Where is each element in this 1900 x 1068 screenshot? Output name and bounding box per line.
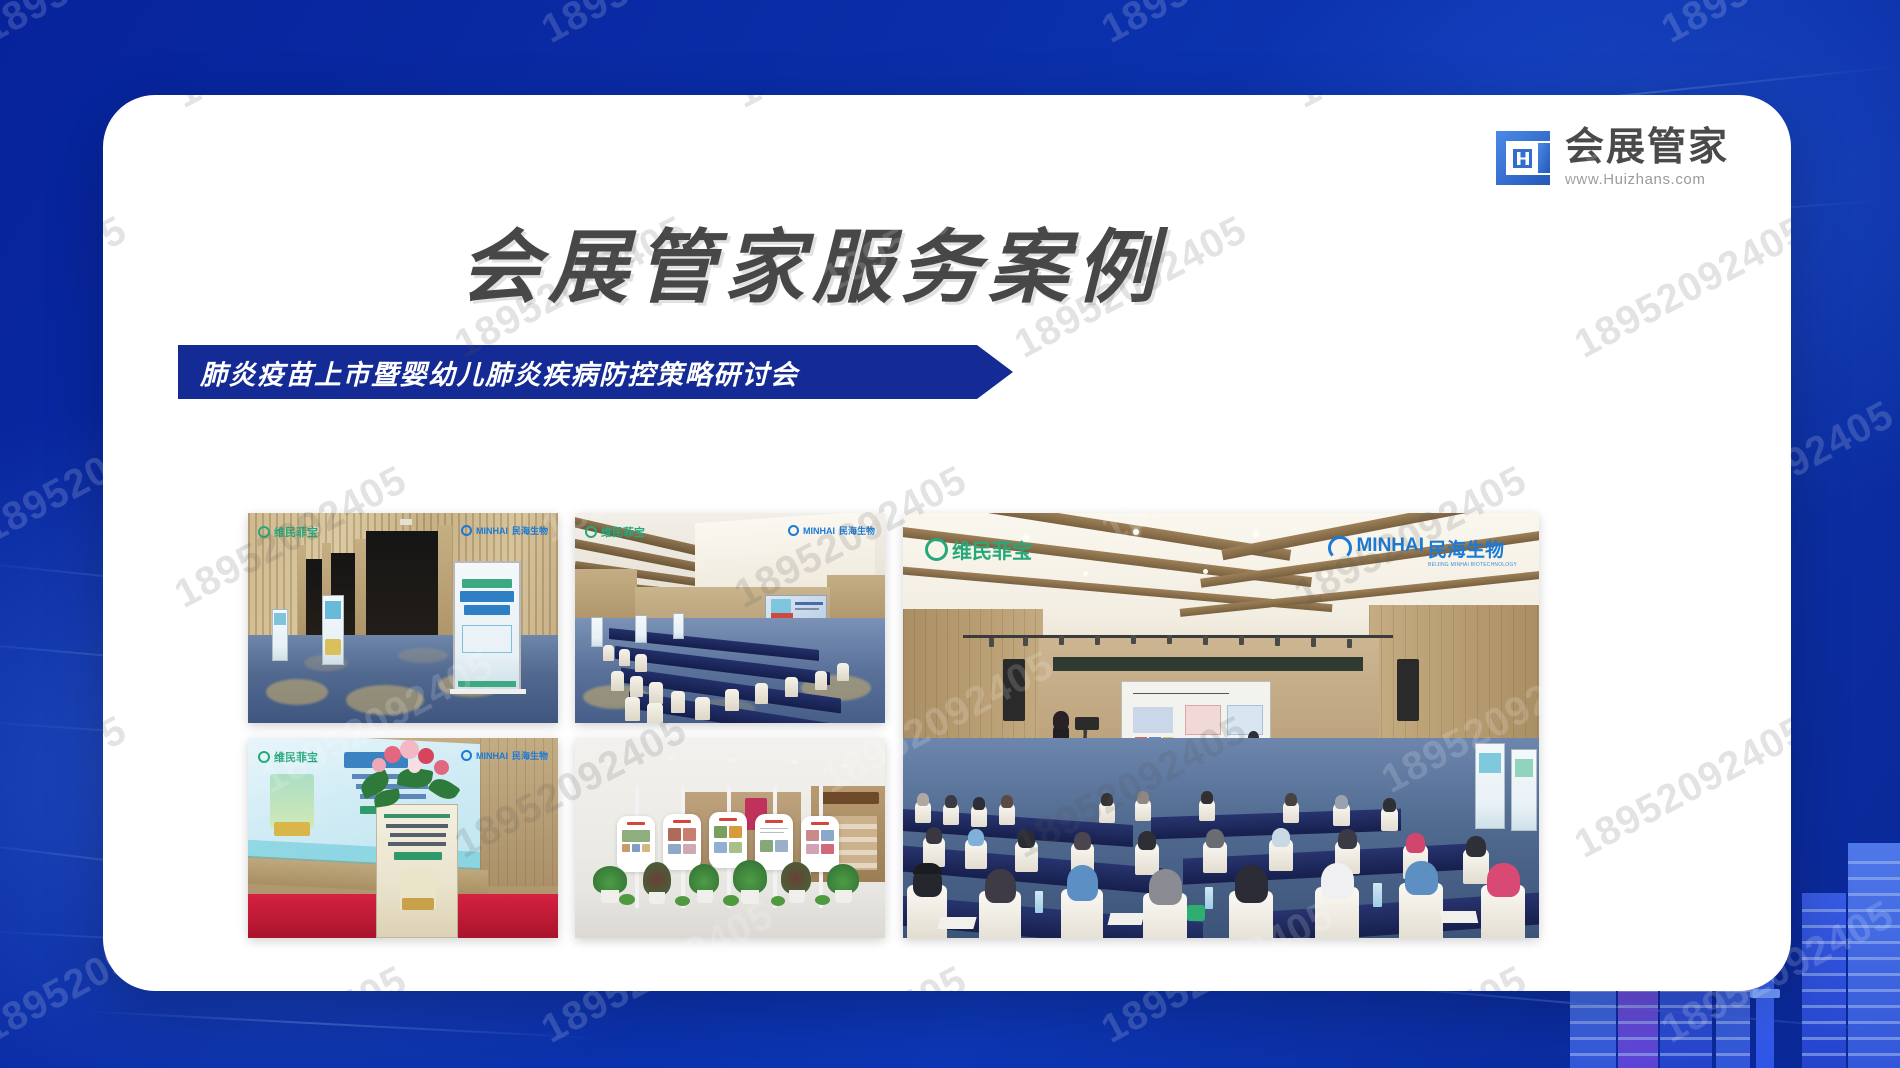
- skyline-window: [1618, 1053, 1658, 1056]
- skyline-window: [1848, 861, 1900, 864]
- brand-name: 会展管家: [1565, 128, 1729, 167]
- skyline-tower-segment: [1750, 989, 1780, 998]
- weiminfeibao-ring-icon: [925, 538, 948, 561]
- skyline-window: [1848, 893, 1900, 896]
- skyline-window: [1802, 989, 1846, 992]
- skyline-window: [1802, 925, 1846, 928]
- skyline-window: [1570, 1037, 1616, 1040]
- skyline-building: [1802, 893, 1846, 1068]
- overlay-logo-minhai: MINHAI 民海生物 BEIJING MINHAI BIOTECHNOLOGY: [1328, 535, 1517, 568]
- skyline-window: [1802, 973, 1846, 976]
- photo-empty-hall[interactable]: 维民菲宝 MINHAI 民海生物: [575, 513, 885, 723]
- watermark-text: 18952092405: [103, 708, 134, 868]
- photo-4-scene: [575, 738, 885, 938]
- skyline-building: [1848, 843, 1900, 1068]
- weiminfeibao-ring-icon: [258, 751, 270, 763]
- watermark-text: 18952092405: [727, 958, 974, 991]
- photo-5-scene: [903, 513, 1539, 938]
- minhai-subtitle: BEIJING MINHAI BIOTECHNOLOGY: [1428, 562, 1517, 568]
- skyline-window: [1570, 1021, 1616, 1024]
- watermark-text: 18952092405: [1567, 708, 1791, 868]
- skyline-window: [1660, 1021, 1712, 1024]
- photo-stage-banner[interactable]: 维民菲宝 MINHAI 民海生物: [248, 738, 558, 938]
- minhai-latin: MINHAI: [1356, 535, 1424, 557]
- overlay-logo-minhai: MINHAI 民海生物: [461, 524, 548, 537]
- minhai-ring-icon: [1328, 536, 1352, 560]
- skyline-window: [1802, 1037, 1846, 1040]
- photo-exhibition-boards[interactable]: [575, 738, 885, 938]
- skyline-window: [1618, 1037, 1658, 1040]
- watermark-text: 18952092405: [1287, 95, 1534, 117]
- skyline-window: [1848, 973, 1900, 976]
- skyline-window: [1802, 1053, 1846, 1056]
- skyline-window: [1848, 941, 1900, 944]
- photo-1-scene: [248, 513, 558, 723]
- skyline-window: [1802, 941, 1846, 944]
- skyline-window: [1802, 909, 1846, 912]
- content-card: 会展管家 www.Huizhans.com 会展管家服务案例 肺炎疫苗上市暨婴幼…: [103, 95, 1791, 991]
- overlay-logo-weiminfeibao: 维民菲宝: [585, 524, 645, 540]
- overlay-logo-weiminfeibao: 维民菲宝: [258, 749, 318, 765]
- watermark-text: 18952092405: [1287, 958, 1534, 991]
- skyline-window: [1716, 1037, 1750, 1040]
- brand-url: www.Huizhans.com: [1565, 171, 1705, 188]
- skyline-window: [1848, 909, 1900, 912]
- minhai-ring-icon: [788, 525, 799, 536]
- skyline-window: [1802, 1005, 1846, 1008]
- skyline-window: [1660, 1037, 1712, 1040]
- overlay-logo-minhai: MINHAI 民海生物: [788, 524, 875, 537]
- skyline-window: [1716, 1005, 1750, 1008]
- huizhans-h-mark-icon: [1494, 129, 1552, 187]
- skyline-window: [1802, 957, 1846, 960]
- skyline-window: [1848, 989, 1900, 992]
- skyline-window: [1660, 1005, 1712, 1008]
- skyline-window: [1802, 1021, 1846, 1024]
- watermark-text: 18952092405: [727, 95, 974, 117]
- skyline-window: [1716, 1053, 1750, 1056]
- skyline-window: [1848, 1037, 1900, 1040]
- brand-text-block: 会展管家 www.Huizhans.com: [1565, 128, 1729, 188]
- skyline-window: [1848, 957, 1900, 960]
- overlay-logo-minhai: MINHAI 民海生物: [461, 749, 548, 762]
- watermark-text: 18952092405: [167, 95, 414, 117]
- skyline-window: [1848, 877, 1900, 880]
- skyline-window: [1570, 1053, 1616, 1056]
- skyline-window: [1618, 1005, 1658, 1008]
- minhai-ring-icon: [461, 750, 472, 761]
- brand-logo[interactable]: 会展管家 www.Huizhans.com: [1494, 128, 1729, 188]
- overlay-logo-weiminfeibao: 维民菲宝: [925, 535, 1032, 564]
- section-banner-label: 肺炎疫苗上市暨婴幼儿肺炎疾病防控策略研讨会: [178, 353, 799, 392]
- skyline-window: [1660, 1053, 1712, 1056]
- skyline-window: [1716, 1021, 1750, 1024]
- skyline-window: [1848, 1053, 1900, 1056]
- watermark-text: 18952092405: [167, 958, 414, 991]
- skyline-window: [1848, 1021, 1900, 1024]
- skyline-window: [1848, 1005, 1900, 1008]
- photo-3-scene: [248, 738, 558, 938]
- minhai-cn: 民海生物 BEIJING MINHAI BIOTECHNOLOGY: [1428, 535, 1517, 568]
- page-title: 会展管家服务案例: [103, 203, 1791, 319]
- photo-2-scene: [575, 513, 885, 723]
- skyline-window: [1570, 1005, 1616, 1008]
- weiminfeibao-ring-icon: [258, 526, 270, 538]
- overlay-logo-weiminfeibao: 维民菲宝: [258, 524, 318, 540]
- weiminfeibao-ring-icon: [585, 526, 597, 538]
- photo-venue-entrance[interactable]: 维民菲宝 MINHAI 民海生物: [248, 513, 558, 723]
- skyline-window: [1618, 1021, 1658, 1024]
- minhai-ring-icon: [461, 525, 472, 536]
- background-streak: [80, 1010, 599, 1039]
- skyline-window: [1848, 925, 1900, 928]
- section-banner: 肺炎疫苗上市暨婴幼儿肺炎疾病防控策略研讨会: [178, 345, 1013, 399]
- photo-main-session[interactable]: 维民菲宝 MINHAI 民海生物 BEIJING MINHAI BIOTECHN…: [903, 513, 1539, 938]
